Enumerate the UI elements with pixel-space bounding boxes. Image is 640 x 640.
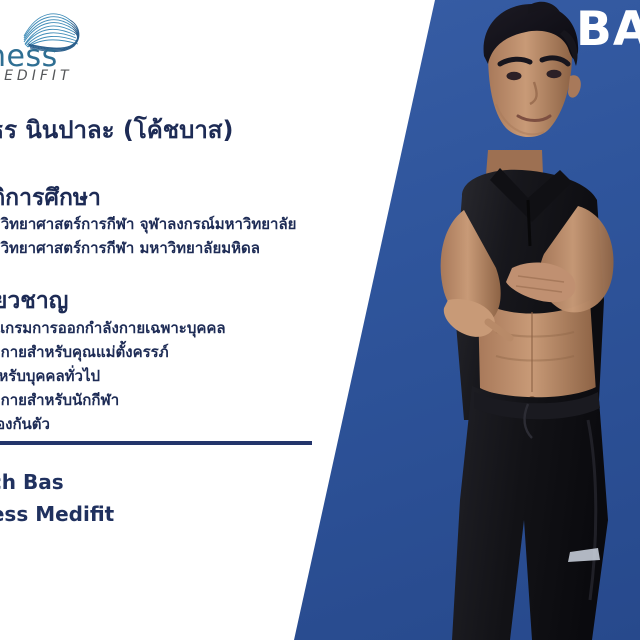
expertise-item: การออกกำลังกายสำหรับนักกีฬา bbox=[0, 392, 119, 409]
education-heading: ประวัติการศึกษา bbox=[0, 180, 101, 216]
coach-name: ณัฐธร นินปาละ (โค้ชบาส) bbox=[0, 110, 233, 149]
coach-portrait-photo bbox=[392, 0, 640, 640]
wellness-medifit-logo: Wellness MEDIFIT bbox=[0, 4, 112, 82]
expertise-heading: ความเชี่ยวชาญ bbox=[0, 283, 68, 319]
expertise-item: ลดน้ำหนักสำหรับบุคคลทั่วไป bbox=[0, 368, 100, 385]
profile-card: BAS Wellness MEDIFIT bbox=[0, 0, 640, 640]
education-item: ปริญญาโท วิทยาศาสตร์การกีฬา จุฬาลงกรณ์มห… bbox=[0, 216, 296, 233]
expertise-item: การออกกำลังกายสำหรับคุณแม่ตั้งครรภ์ bbox=[0, 344, 169, 361]
expertise-item: ศิลปะศิลปะป้องกันตัว bbox=[0, 416, 50, 433]
footer-brand-name: Wellness Medifit bbox=[0, 502, 114, 526]
expertise-item: ออกแบบโปรแกรมการออกกำลังกายเฉพาะบุคคล bbox=[0, 320, 226, 337]
education-item: ปริญญาตรี วิทยาศาสตร์การกีฬา มหาวิทยาลัย… bbox=[0, 240, 260, 257]
headline-bas: BAS bbox=[576, 6, 640, 53]
logo-subtitle: MEDIFIT bbox=[0, 68, 73, 82]
info-column: ณัฐธร นินปาละ (โค้ชบาส) ประวัติการศึกษา … bbox=[0, 0, 330, 640]
section-divider bbox=[0, 441, 312, 445]
footer-coach-name: Coach Bas bbox=[0, 470, 64, 494]
